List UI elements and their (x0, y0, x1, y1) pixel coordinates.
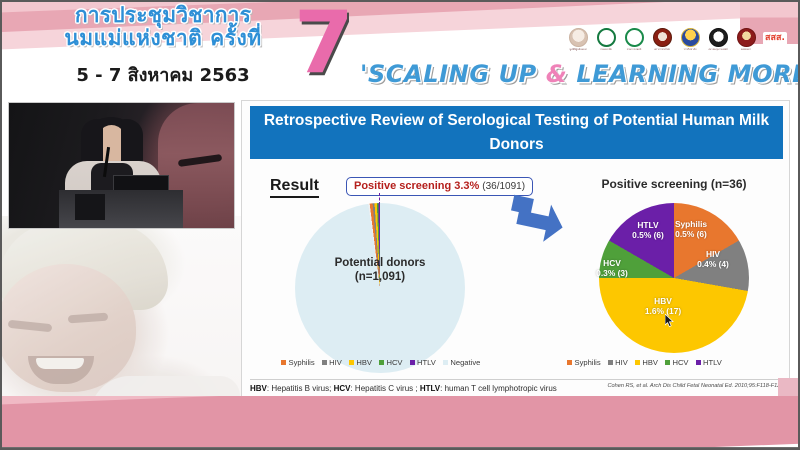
footnote-val-htlv: : human T cell lymphotropic virus (440, 384, 557, 393)
legend-item-hiv: HIV (322, 358, 342, 367)
conference-edition-number: 7 (294, 0, 354, 86)
slice-value-hiv: 0.4% (4) (688, 259, 738, 269)
legend-label-negative: Negative (450, 358, 480, 367)
positive-screening-callout: Positive screening 3.3% (36/1091) (346, 177, 533, 196)
legend-label-hcv: HCV (386, 358, 402, 367)
legend-item-negative: Negative (443, 358, 480, 367)
slice-name-hbv: HBV (628, 296, 698, 306)
legend-label-hiv: HIV (615, 358, 628, 367)
legend-positive-screening: Syphilis HIV HBV HCV HTLV (567, 358, 722, 367)
legend-label-hiv: HIV (329, 358, 342, 367)
slice-value-hcv: 0.3% (3) (589, 268, 635, 278)
pie-slice-label-hiv: HIV 0.4% (4) (688, 249, 738, 269)
logo-caption: สมาคมกุมารแพทย์ (708, 48, 727, 51)
screenshot-stage: การประชุมวิชาการ นมแม่แห่งชาติ ครั้งที่ … (0, 0, 800, 450)
positive-screening-percent: Positive screening 3.3% (354, 180, 479, 192)
legend-item-htlv: HTLV (410, 358, 436, 367)
logo-caption: สภากาชาดไทย (654, 48, 670, 51)
footnote-key-hbv: HBV (250, 384, 267, 393)
pie-slice-label-hcv: HCV 0.3% (3) (589, 258, 635, 278)
legend-label-syphilis: Syphilis (575, 358, 601, 367)
legend-swatch-htlv (410, 360, 415, 365)
legend-item-htlv: HTLV (696, 358, 722, 367)
footnote-val-hcv: : Hepatitis C virus ; (350, 384, 419, 393)
conference-slogan: 'SCALING UP & LEARNING MORE' (360, 60, 800, 88)
baby-teeth (36, 358, 84, 369)
conference-date: 5 - 7 สิงหาคม 2563 (18, 60, 308, 89)
legend-item-hcv: HCV (379, 358, 403, 367)
slice-value-htlv: 0.5% (6) (622, 230, 674, 240)
logo-ministry-public-health-green-2-icon: กรมการแพทย์ (622, 26, 646, 52)
potential-donors-pie-label: Potential donors (n=1,091) (295, 256, 465, 284)
legend-item-hiv: HIV (608, 358, 628, 367)
slice-name-hcv: HCV (589, 258, 635, 268)
legend-item-syphilis: Syphilis (281, 358, 315, 367)
logo-caption: กรมการแพทย์ (627, 48, 641, 51)
presentation-body: Retrospective Review of Serological Test… (0, 96, 800, 450)
logo-red-emblem-icon: สภากาชาดไทย (650, 26, 674, 52)
conference-thai-title: การประชุมวิชาการ นมแม่แห่งชาติ ครั้งที่ (18, 4, 308, 50)
pie-slice-label-htlv: HTLV 0.5% (6) (622, 220, 674, 240)
legend-swatch-hcv (665, 360, 670, 365)
logo-thai-royal-seal-icon: มูลนิธิศูนย์นมแม่ (566, 26, 590, 52)
legend-item-hbv: HBV (349, 358, 372, 367)
logo-thaihealth-sss-icon: สสส. (762, 26, 788, 52)
footnote-key-hcv: HCV (334, 384, 351, 393)
legend-swatch-syphilis (281, 360, 286, 365)
result-heading: Result (270, 177, 319, 198)
legend-swatch-hbv (349, 360, 354, 365)
background-baby-photo (0, 216, 244, 426)
legend-label-hbv: HBV (642, 358, 658, 367)
legend-swatch-hiv (608, 360, 613, 365)
legend-item-hbv: HBV (635, 358, 658, 367)
logo-royal-crest-icon: ราชวิทยาลัย (678, 26, 702, 52)
legend-swatch-negative (443, 360, 448, 365)
logo-sss-text: สสส. (763, 32, 787, 46)
potential-donors-pie-chart (295, 203, 465, 373)
legend-swatch-htlv (696, 360, 701, 365)
slogan-ampersand: & (546, 60, 568, 88)
footer-pink-band (0, 396, 800, 450)
legend-label-htlv: HTLV (703, 358, 722, 367)
footer-band-dark (0, 396, 800, 450)
potential-donors-count: (n=1,091) (295, 270, 465, 284)
logo-ministry-public-health-green-1-icon: กรมอนามัย (594, 26, 618, 52)
podium-panel (75, 194, 105, 220)
logo-caption: มูลนิธิศูนย์นมแม่ (569, 48, 586, 51)
presentation-slide[interactable]: Retrospective Review of Serological Test… (241, 100, 790, 405)
logo-caption: แพทยสภา (741, 48, 751, 51)
footnote-key-htlv: HTLV (420, 384, 440, 393)
legend-label-htlv: HTLV (417, 358, 436, 367)
logo-black-garuda-icon: สมาคมกุมารแพทย์ (706, 26, 730, 52)
speaker-video-panel[interactable] (8, 102, 235, 229)
legend-label-hbv: HBV (356, 358, 372, 367)
conference-thai-title-line1: การประชุมวิชาการ (18, 4, 308, 27)
conference-header-banner: การประชุมวิชาการ นมแม่แห่งชาติ ครั้งที่ … (0, 0, 800, 96)
pie-slice-label-hbv: HBV 1.6% (17) (628, 296, 698, 316)
legend-label-hcv: HCV (672, 358, 688, 367)
legend-item-hcv: HCV (665, 358, 689, 367)
slice-name-htlv: HTLV (622, 220, 674, 230)
logo-caption: กรมอนามัย (600, 48, 612, 51)
positive-screening-fraction: (36/1091) (482, 181, 525, 192)
legend-label-syphilis: Syphilis (289, 358, 315, 367)
slice-name-hiv: HIV (688, 249, 738, 259)
slide-title: Retrospective Review of Serological Test… (250, 106, 783, 159)
mouse-cursor-icon (665, 314, 674, 327)
logo-caption: ราชวิทยาลัย (684, 48, 697, 51)
slice-value-hbv: 1.6% (17) (628, 306, 698, 316)
sponsor-logos-row: มูลนิธิศูนย์นมแม่ กรมอนามัย กรมการแพทย์ … (566, 26, 788, 52)
legend-item-syphilis: Syphilis (567, 358, 601, 367)
potential-donors-title: Potential donors (295, 256, 465, 270)
conference-thai-title-line2: นมแม่แห่งชาติ ครั้งที่ (18, 27, 308, 50)
legend-swatch-hbv (635, 360, 640, 365)
legend-swatch-hiv (322, 360, 327, 365)
legend-swatch-hcv (379, 360, 384, 365)
legend-potential-donors: Syphilis HIV HBV HCV HTLV Negative (281, 358, 480, 367)
footnote-val-hbv: : Hepatitis B virus; (267, 384, 334, 393)
flow-arrow-icon (508, 194, 566, 242)
slide-citation: Cohen RS, et al. Arch Dis Child Fetal Ne… (607, 383, 785, 389)
logo-maroon-crest-icon: แพทยสภา (734, 26, 758, 52)
legend-swatch-syphilis (567, 360, 572, 365)
positive-screening-pie-title: Positive screening (n=36) (564, 177, 784, 191)
slogan-part2: LEARNING MORE' (567, 60, 800, 88)
slogan-part1: 'SCALING UP (360, 60, 546, 88)
